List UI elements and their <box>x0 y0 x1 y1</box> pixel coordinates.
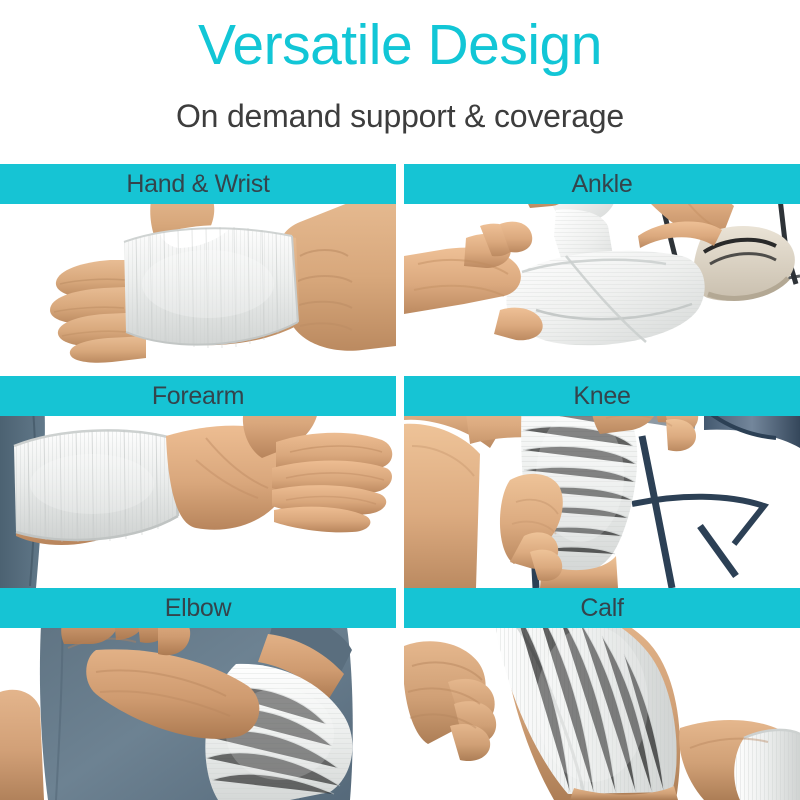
panel-ankle: Ankle <box>404 164 800 376</box>
infographic-page: Versatile Design On demand support & cov… <box>0 0 800 800</box>
page-title: Versatile Design <box>0 14 800 76</box>
panel-grid: Hand & Wrist <box>0 164 800 800</box>
column-divider <box>396 164 404 800</box>
page-subtitle: On demand support & coverage <box>0 97 800 135</box>
panel-label-bar-forearm: Forearm <box>0 376 396 416</box>
panel-label-bar-knee: Knee <box>404 376 800 416</box>
panel-label-bar-elbow: Elbow <box>0 588 396 628</box>
panel-label-bar-calf: Calf <box>404 588 800 628</box>
header: Versatile Design On demand support & cov… <box>0 0 800 164</box>
panel-label-bar-hand-wrist: Hand & Wrist <box>0 164 396 204</box>
panel-forearm: Forearm <box>0 376 396 588</box>
panel-label-forearm: Forearm <box>152 382 244 410</box>
panel-label-ankle: Ankle <box>571 170 632 198</box>
panel-calf: Calf <box>404 588 800 800</box>
panel-elbow: Elbow <box>0 588 396 800</box>
panel-label-calf: Calf <box>580 594 623 622</box>
panel-label-knee: Knee <box>573 382 630 410</box>
panel-label-bar-ankle: Ankle <box>404 164 800 204</box>
panel-label-hand-wrist: Hand & Wrist <box>126 170 269 198</box>
panel-label-elbow: Elbow <box>165 594 232 622</box>
panel-knee: Knee <box>404 376 800 588</box>
panel-hand-wrist: Hand & Wrist <box>0 164 396 376</box>
